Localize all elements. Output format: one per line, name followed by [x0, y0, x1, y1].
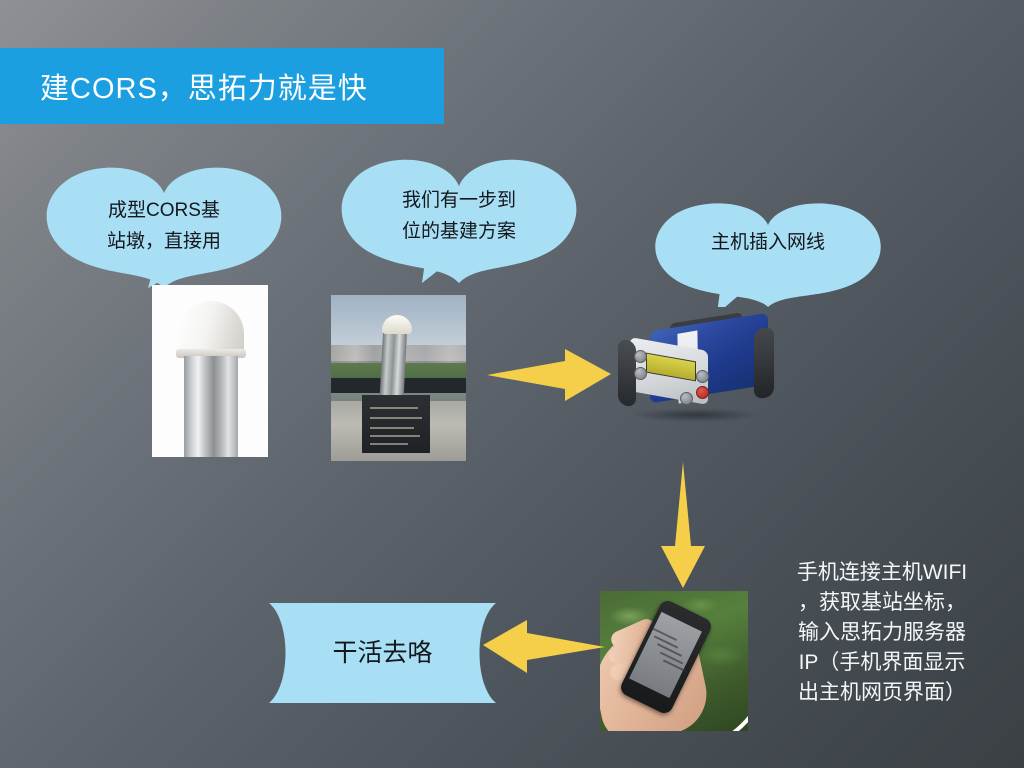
- callout-heart-plug-network-cable[interactable]: 主机插入网线: [645, 199, 891, 307]
- arrow-left-icon: [483, 617, 605, 675]
- steel-pillar: [184, 356, 238, 457]
- page-title: 建CORS，思拓力就是快: [0, 65, 368, 107]
- callout-heart-turnkey-plan[interactable]: 我们有一步到 位的基建方案: [330, 155, 588, 283]
- slide-canvas: 建CORS，思拓力就是快 成型CORS基 站墩，直接用 我们有一步到 位的基建方…: [0, 0, 1024, 768]
- photo-hand-holding-phone: [600, 591, 748, 731]
- panel-button: [634, 367, 647, 380]
- panel-button: [634, 350, 647, 363]
- bumper-right: [754, 326, 774, 399]
- callout-heart-cors-pier-text: 成型CORS基 站墩，直接用: [36, 195, 292, 257]
- callout-banner-go-to-work[interactable]: 干活去咯: [265, 597, 500, 709]
- drop-shadow: [630, 408, 760, 422]
- panel-button: [680, 392, 693, 405]
- arrow-down-icon: [655, 462, 711, 588]
- photo-rooftop-cors-station: [331, 295, 466, 461]
- power-button: [696, 386, 709, 399]
- photo-cors-pier: [152, 285, 268, 457]
- radome-dome: [178, 301, 244, 355]
- callout-heart-cors-pier[interactable]: 成型CORS基 站墩，直接用: [36, 163, 292, 288]
- granite-base: [362, 395, 430, 453]
- callout-heart-plug-network-cable-text: 主机插入网线: [645, 227, 891, 258]
- callout-banner-go-to-work-text: 干活去咯: [265, 633, 500, 669]
- photo-gnss-receiver: [612, 312, 782, 424]
- panel-button: [696, 370, 709, 383]
- arrow-right-icon: [487, 347, 611, 403]
- callout-heart-turnkey-plan-text: 我们有一步到 位的基建方案: [330, 185, 588, 247]
- title-banner: 建CORS，思拓力就是快: [0, 48, 444, 124]
- caption-phone-setup-steps: 手机连接主机WIFI ，获取基站坐标， 输入思拓力服务器 IP（手机界面显示 出…: [757, 558, 1007, 708]
